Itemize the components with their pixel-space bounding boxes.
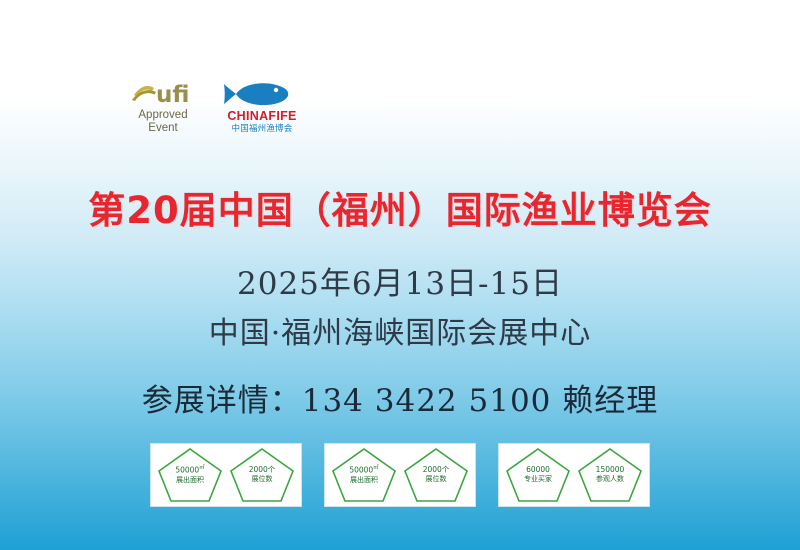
pentagon-badge: 2000个 展位数	[228, 446, 296, 504]
pentagon-badge: 150000 参观人数	[576, 446, 644, 504]
stat-value: 2000个	[423, 465, 450, 475]
stat-card: 50000㎡ 展出面积 2000个 展位数	[150, 443, 302, 507]
stat-value: 50000㎡	[175, 465, 204, 476]
ufi-approved-line2: Event	[148, 122, 177, 134]
poster-date-line: 2025年6月13日-15日	[0, 258, 800, 303]
stat-label: 参观人数	[596, 475, 624, 484]
stat-card: 60000 专业买家 150000 参观人数	[498, 443, 650, 507]
svg-text:ufi: ufi	[156, 82, 189, 106]
stat-value: 60000	[526, 465, 550, 475]
stat-value: 150000	[596, 465, 625, 475]
stat-label: 展位数	[252, 475, 273, 484]
logo-row: ufi Approved Event CHINAFIFE 中国福州渔博会	[130, 78, 310, 135]
stat-value: 2000个	[249, 465, 276, 475]
stat-card-row: 50000㎡ 展出面积 2000个 展位数 50000㎡ 展出面积 2000个 …	[0, 443, 800, 507]
ufi-approved-event-logo: ufi Approved Event	[130, 78, 196, 135]
chinafife-english-label: CHINAFIFE	[214, 110, 310, 123]
pentagon-badge: 60000 专业买家	[504, 446, 572, 504]
poster-contact-line: 参展详情：134 3422 5100 赖经理	[0, 375, 800, 420]
chinafife-chinese-label: 中国福州渔博会	[214, 125, 310, 134]
stat-label: 展出面积	[350, 476, 378, 485]
ufi-approved-label: Approved Event	[130, 109, 196, 135]
stat-label: 专业买家	[524, 475, 552, 484]
pentagon-badge: 50000㎡ 展出面积	[330, 446, 398, 504]
stat-label: 展位数	[426, 475, 447, 484]
stat-card: 50000㎡ 展出面积 2000个 展位数	[324, 443, 476, 507]
chinafife-logo: CHINAFIFE 中国福州渔博会	[214, 78, 310, 133]
stat-value: 50000㎡	[349, 465, 378, 476]
ufi-approved-line1: Approved	[138, 109, 187, 121]
stat-label: 展出面积	[176, 476, 204, 485]
poster-canvas: ufi Approved Event CHINAFIFE 中国福州渔博会 第20…	[0, 0, 800, 550]
fish-icon	[214, 78, 310, 108]
poster-venue-line: 中国·福州海峡国际会展中心	[0, 308, 800, 352]
pentagon-badge: 2000个 展位数	[402, 446, 470, 504]
poster-headline: 第20届中国（福州）国际渔业博览会	[0, 180, 800, 234]
pentagon-badge: 50000㎡ 展出面积	[156, 446, 224, 504]
ufi-swoosh-icon: ufi	[130, 78, 196, 106]
